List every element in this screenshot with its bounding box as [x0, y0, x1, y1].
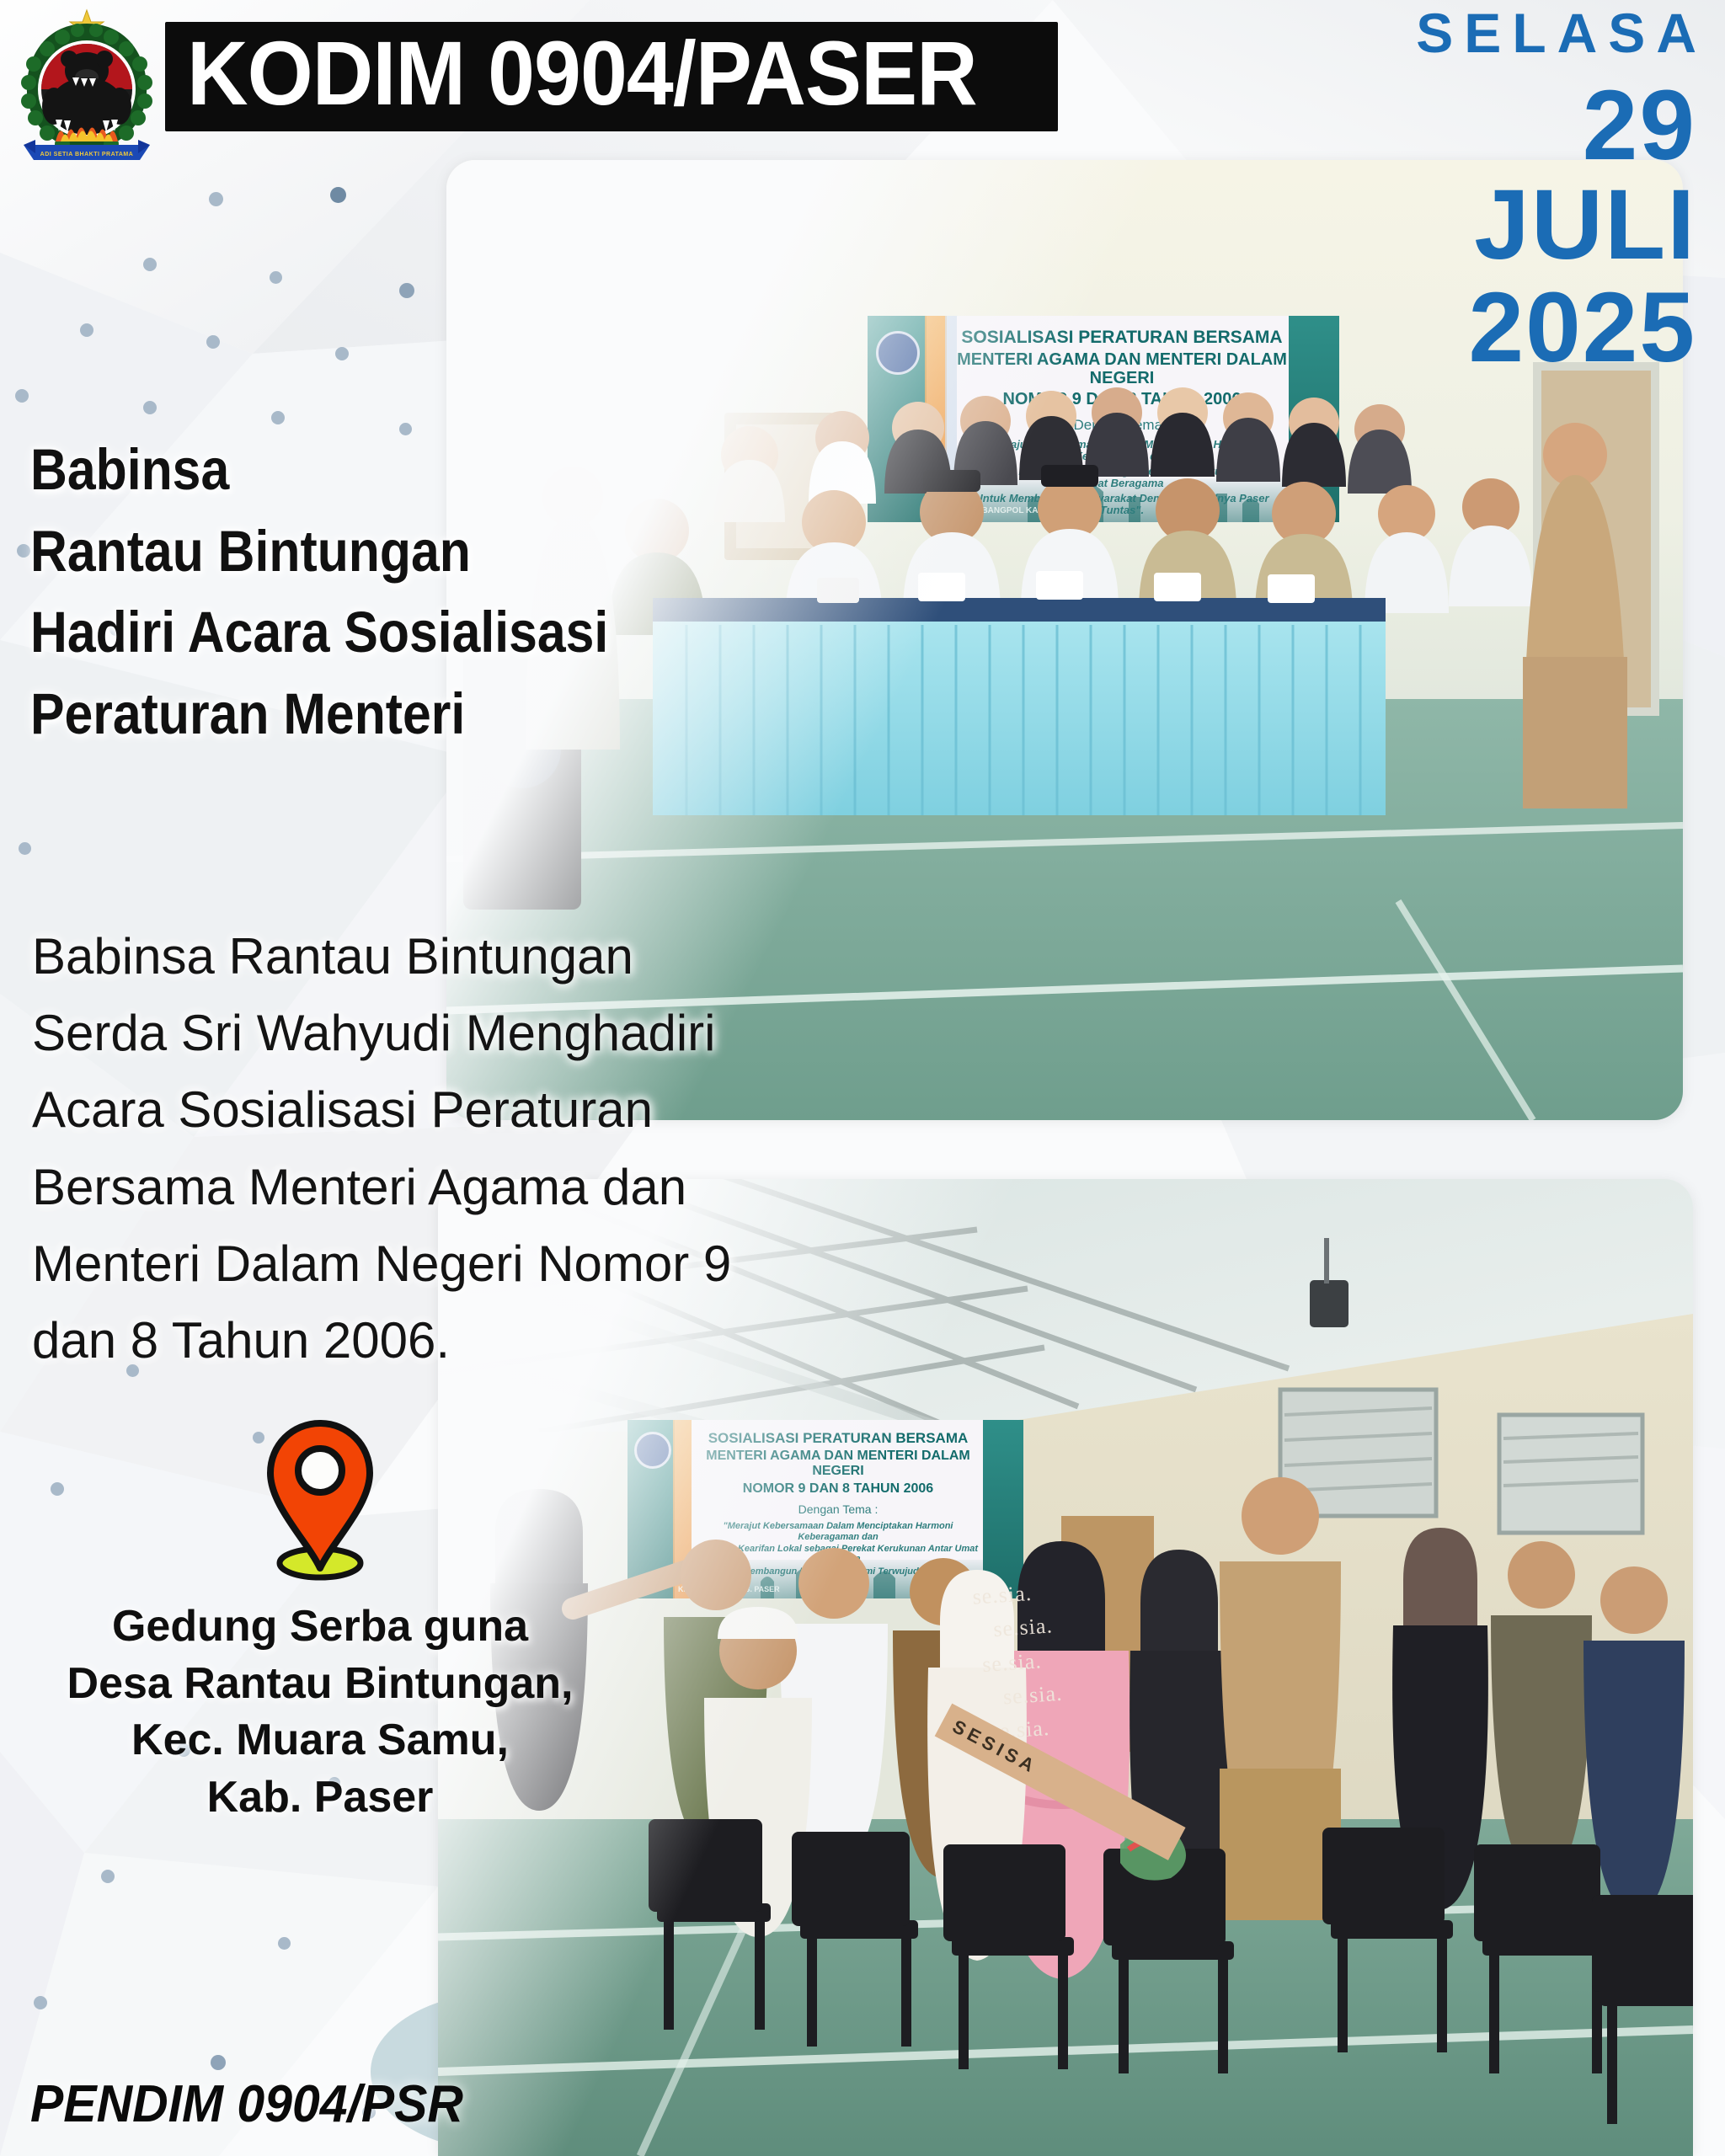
date-day-month: 29 JULI — [1334, 76, 1696, 275]
headline-line-3: Hadiri Acara Sosialisasi — [30, 592, 682, 674]
body-line-5: Menteri Dalam Negeri Nomor 9 — [32, 1225, 950, 1302]
poster-title-band: KODIM 0904/PASER — [165, 22, 1058, 131]
date-block: SELASA 29 JULI 2025 — [1334, 5, 1696, 377]
hijab-pattern-text: se.sia. se.sia. se.sia. se.sia. se.sia. — [971, 1570, 1142, 1749]
location-line-2: Desa Rantau Bintungan, — [0, 1656, 640, 1713]
headline-line-2: Rantau Bintungan — [30, 511, 682, 593]
date-year: 2025 — [1334, 278, 1696, 377]
location-line-1: Gedung Serba guna — [0, 1598, 640, 1656]
location-block: Gedung Serba guna Desa Rantau Bintungan,… — [0, 1415, 640, 1826]
date-day-name: SELASA — [1334, 5, 1707, 61]
body-line-1: Babinsa Rantau Bintungan — [32, 918, 950, 995]
page-title: KODIM 0904/PASER — [187, 27, 977, 120]
map-pin-icon — [257, 1415, 383, 1583]
kodim-emblem: ADI SETIA BHAKTI PRATAMA — [12, 5, 162, 161]
body-line-2: Serda Sri Wahyudi Menghadiri — [32, 995, 950, 1071]
headline-line-4: Peraturan Menteri — [30, 674, 682, 755]
location-line-4: Kab. Paser — [0, 1769, 640, 1827]
body-line-3: Acara Sosialisasi Peraturan — [32, 1071, 950, 1148]
body-line-6: dan 8 Tahun 2006. — [32, 1302, 950, 1379]
footer-credit: PENDIM 0904/PSR — [30, 2074, 463, 2134]
poster-canvas: SOSIALISASI PERATURAN BERSAMA MENTERI AG… — [0, 0, 1725, 2156]
svg-text:ADI SETIA BHAKTI PRATAMA: ADI SETIA BHAKTI PRATAMA — [40, 152, 134, 157]
location-line-3: Kec. Muara Samu, — [0, 1712, 640, 1769]
headline-line-1: Babinsa — [30, 430, 682, 511]
headline: Babinsa Rantau Bintungan Hadiri Acara So… — [30, 430, 772, 755]
body-line-4: Bersama Menteri Agama dan — [32, 1149, 950, 1225]
poster-header: ADI SETIA BHAKTI PRATAMA KODIM 0904/PASE… — [0, 0, 1725, 168]
body-paragraph: Babinsa Rantau Bintungan Serda Sri Wahyu… — [32, 918, 950, 1379]
